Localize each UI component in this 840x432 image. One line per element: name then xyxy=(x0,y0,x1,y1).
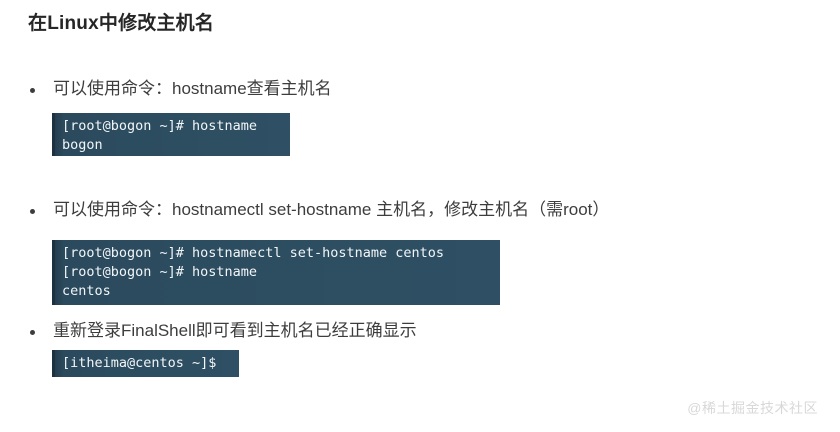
bullet-dot-icon xyxy=(30,209,35,214)
terminal-code-block: [root@bogon ~]# hostnamectl set-hostname… xyxy=(52,240,500,305)
terminal-line: [root@bogon ~]# hostname xyxy=(62,117,282,136)
list-item: 可以使用命令：hostnamectl set-hostname 主机名，修改主机… xyxy=(30,199,609,220)
terminal-line: [root@bogon ~]# hostname xyxy=(62,263,492,282)
terminal-line: [root@bogon ~]# hostnamectl set-hostname… xyxy=(62,244,492,263)
list-item-label: 重新登录FinalShell即可看到主机名已经正确显示 xyxy=(53,320,417,341)
page-title: 在Linux中修改主机名 xyxy=(28,8,214,35)
bullet-dot-icon xyxy=(30,88,35,93)
list-item-label: 可以使用命令：hostname查看主机名 xyxy=(53,78,332,99)
list-item: 重新登录FinalShell即可看到主机名已经正确显示 xyxy=(30,320,417,341)
slide-canvas: 在Linux中修改主机名 可以使用命令：hostname查看主机名 [root@… xyxy=(0,0,840,432)
terminal-line: bogon xyxy=(62,136,282,155)
terminal-code-block: [itheima@centos ~]$ xyxy=(52,350,239,377)
terminal-line: [itheima@centos ~]$ xyxy=(62,354,231,373)
terminal-line: centos xyxy=(62,282,492,301)
terminal-code-block: [root@bogon ~]# hostname bogon xyxy=(52,113,290,156)
bullet-dot-icon xyxy=(30,330,35,335)
list-item: 可以使用命令：hostname查看主机名 xyxy=(30,78,332,99)
watermark: @稀土掘金技术社区 xyxy=(687,398,818,418)
list-item-label: 可以使用命令：hostnamectl set-hostname 主机名，修改主机… xyxy=(53,199,609,220)
